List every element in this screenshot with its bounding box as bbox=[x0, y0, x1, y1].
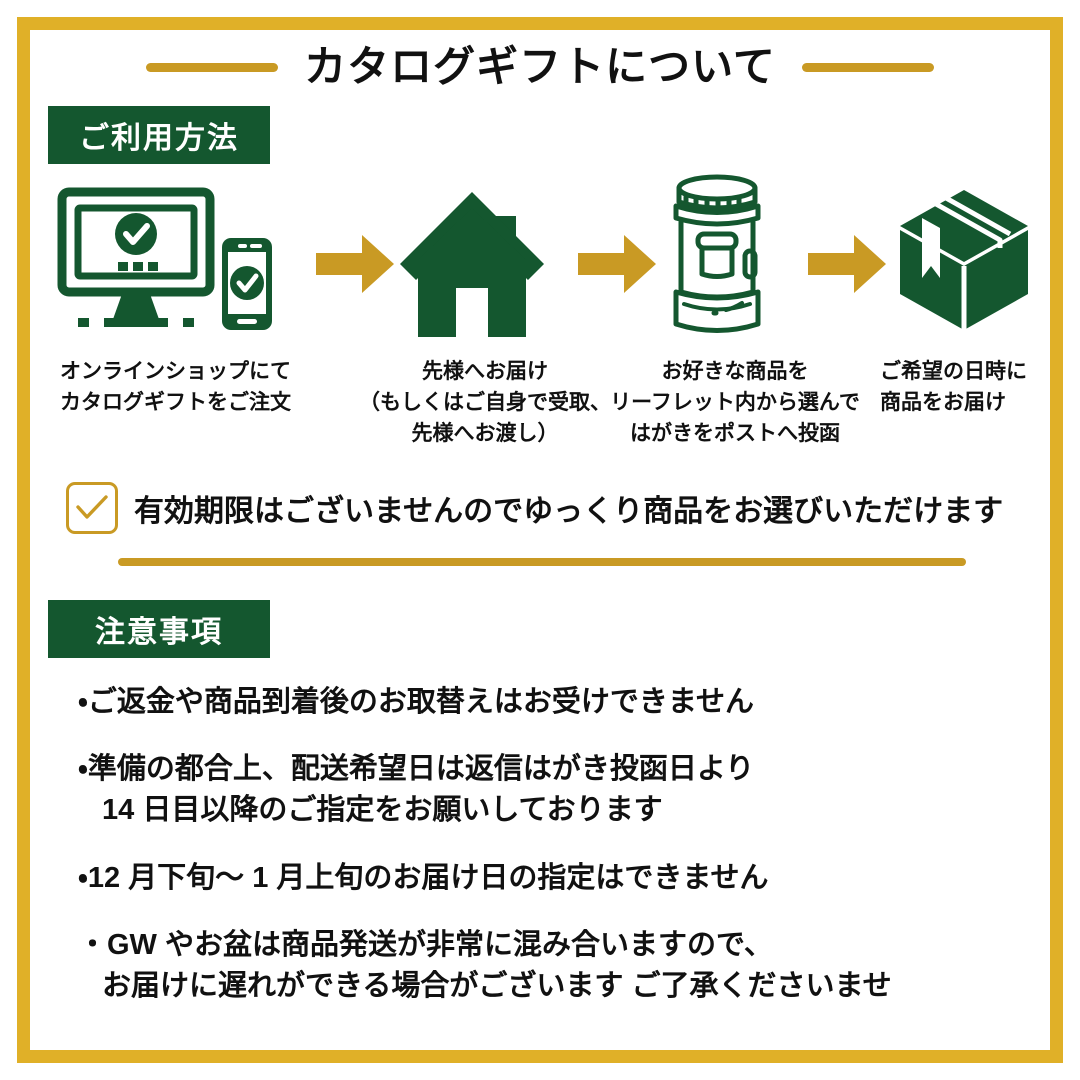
catalog-gift-infographic: カタログギフトについて ご利用方法 bbox=[0, 0, 1080, 1080]
note-item-2-line-1: ・準備の都合上、配送希望日は返信はがき投函日より bbox=[78, 749, 1028, 790]
house-icon bbox=[400, 182, 544, 337]
check-square-icon bbox=[66, 482, 118, 534]
step-caption-4-line-2: 商品をお届け bbox=[880, 387, 1027, 418]
step-caption-1-line-1: オンラインショップにて bbox=[60, 356, 291, 387]
arrow-right-icon bbox=[808, 235, 886, 298]
note-item: ・12 月下旬〜 1 月上旬のお届け日の指定はできません bbox=[78, 858, 1028, 899]
step-caption-3-line-1: お好きな商品を bbox=[590, 356, 880, 387]
monitor-smartphone-check-icon bbox=[56, 186, 276, 336]
usage-step-captions: オンラインショップにて カタログギフトをご注文 先様へお届け （もしくはご自身で… bbox=[0, 356, 1080, 466]
validity-note: 有効期限はございませんのでゆっくり商品をお選びいただけます bbox=[66, 482, 1003, 534]
note-item-2-line-2: 14 日目以降のご指定をお願いしております bbox=[78, 790, 1028, 831]
page-title: カタログギフトについて bbox=[304, 46, 776, 88]
postbox-icon bbox=[662, 172, 772, 337]
step-caption-2-line-3: 先様へお渡し） bbox=[340, 418, 630, 449]
page-title-row: カタログギフトについて bbox=[0, 36, 1080, 98]
step-caption-1: オンラインショップにて カタログギフトをご注文 bbox=[60, 356, 291, 418]
section-tag-usage-label: ご利用方法 bbox=[79, 113, 239, 157]
parcel-box-icon bbox=[896, 186, 1032, 334]
section-tag-usage: ご利用方法 bbox=[48, 106, 270, 164]
note-item: ・GW やお盆は商品発送が非常に混み合いますので、 お届けに遅れができる場合がご… bbox=[78, 925, 1028, 1007]
step-caption-1-line-2: カタログギフトをご注文 bbox=[60, 387, 291, 418]
arrow-right-icon bbox=[316, 235, 394, 298]
step-caption-3-line-2: リーフレット内から選んで bbox=[590, 387, 880, 418]
section-tag-notes-label: 注意事項 bbox=[95, 607, 223, 651]
note-item-1-line-1: ・ご返金や商品到着後のお取替えはお受けできません bbox=[78, 682, 1028, 723]
notes-list: ・ご返金や商品到着後のお取替えはお受けできません ・準備の都合上、配送希望日は返… bbox=[78, 682, 1028, 1007]
note-item: ・準備の都合上、配送希望日は返信はがき投函日より 14 日目以降のご指定をお願い… bbox=[78, 749, 1028, 831]
note-item-4-line-1: ・GW やお盆は商品発送が非常に混み合いますので、 bbox=[78, 925, 1028, 966]
title-dash-right-icon bbox=[802, 63, 934, 72]
step-caption-2-line-2: （もしくはご自身で受取、 bbox=[340, 387, 630, 418]
note-item-3-line-1: ・12 月下旬〜 1 月上旬のお届け日の指定はできません bbox=[78, 858, 1028, 899]
step-caption-2: 先様へお届け （もしくはご自身で受取、 先様へお渡し） bbox=[340, 356, 630, 449]
title-dash-left-icon bbox=[146, 63, 278, 72]
step-caption-3: お好きな商品を リーフレット内から選んで はがきをポストへ投函 bbox=[590, 356, 880, 449]
section-tag-notes: 注意事項 bbox=[48, 600, 270, 658]
usage-steps-icons bbox=[48, 172, 1032, 337]
note-item: ・ご返金や商品到着後のお取替えはお受けできません bbox=[78, 682, 1028, 723]
validity-note-text: 有効期限はございませんのでゆっくり商品をお選びいただけます bbox=[134, 486, 1003, 530]
note-item-4-line-2: お届けに遅れができる場合がございます ご了承くださいませ bbox=[78, 966, 1028, 1007]
section-divider bbox=[118, 558, 966, 566]
arrow-right-icon bbox=[578, 235, 656, 298]
step-caption-3-line-3: はがきをポストへ投函 bbox=[590, 418, 880, 449]
step-caption-4: ご希望の日時に 商品をお届け bbox=[880, 356, 1027, 418]
step-caption-2-line-1: 先様へお届け bbox=[340, 356, 630, 387]
step-caption-4-line-1: ご希望の日時に bbox=[880, 356, 1027, 387]
